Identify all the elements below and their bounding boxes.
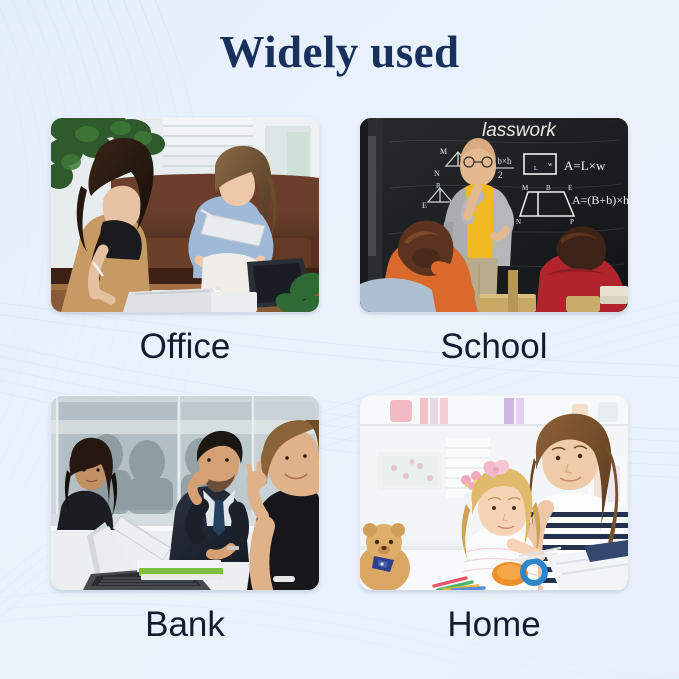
card-label-bank: Bank — [34, 604, 336, 646]
school-photo: lasswork M N = b×h 2 L w — [360, 118, 628, 312]
use-case-card-school[interactable]: lasswork M N = b×h 2 L w — [343, 112, 645, 377]
card-label-office: Office — [34, 326, 336, 368]
svg-text:E: E — [422, 201, 427, 210]
svg-text:w: w — [548, 162, 553, 168]
svg-text:P: P — [570, 218, 574, 226]
svg-text:R: R — [436, 182, 441, 190]
card-label-school: School — [343, 326, 645, 368]
svg-text:2: 2 — [498, 170, 503, 180]
use-case-card-bank[interactable]: Bank — [34, 390, 336, 655]
svg-text:A=L×w: A=L×w — [564, 158, 606, 173]
use-case-card-home[interactable]: Home — [343, 390, 645, 655]
svg-text:N: N — [516, 218, 521, 226]
bank-photo — [51, 396, 319, 590]
office-photo — [51, 118, 319, 312]
use-case-card-office[interactable]: Office — [34, 112, 336, 377]
svg-text:M: M — [440, 147, 447, 156]
svg-text:N: N — [434, 169, 440, 178]
page-title: Widely used — [0, 26, 679, 78]
use-case-grid: Office — [0, 112, 679, 672]
svg-text:M: M — [522, 184, 529, 192]
svg-text:B: B — [546, 184, 551, 192]
svg-text:L: L — [534, 166, 538, 172]
card-label-home: Home — [343, 604, 645, 646]
svg-text:A=(B+b)×h: A=(B+b)×h — [572, 193, 628, 207]
home-photo — [360, 396, 628, 590]
svg-text:lasswork: lasswork — [482, 120, 557, 141]
promo-page: Widely used — [0, 0, 679, 679]
svg-text:E: E — [568, 184, 572, 192]
